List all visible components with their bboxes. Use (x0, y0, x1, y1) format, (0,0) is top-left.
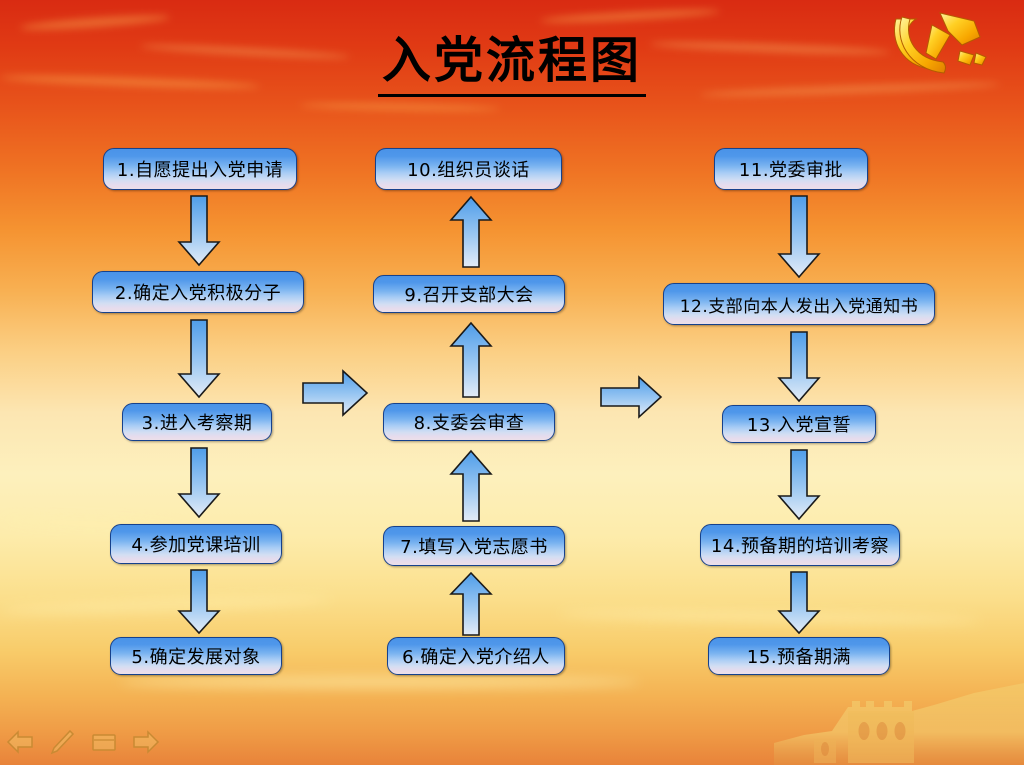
flow-node-step-10[interactable]: 10.组织员谈话 (375, 148, 562, 190)
arrow-down-step12-to-step13 (778, 332, 820, 402)
flow-node-step-14[interactable]: 14.预备期的培训考察 (700, 524, 900, 566)
great-wall-watermark (774, 665, 1024, 765)
arrow-up-step8-to-step9 (450, 322, 492, 398)
arrow-right-icon (132, 729, 160, 755)
flow-node-step-9[interactable]: 9.召开支部大会 (373, 275, 565, 313)
flow-node-step-11[interactable]: 11.党委审批 (714, 148, 868, 190)
flow-node-step-4[interactable]: 4.参加党课培训 (110, 524, 282, 564)
party-hammer-sickle-emblem (882, 2, 1012, 80)
arrow-right-column2-to-column3 (600, 375, 662, 419)
flow-node-step-1[interactable]: 1.自愿提出入党申请 (103, 148, 297, 190)
flow-node-step-7[interactable]: 7.填写入党志愿书 (383, 526, 565, 566)
cloud-streak (540, 7, 720, 24)
flow-node-step-6[interactable]: 6.确定入党介绍人 (387, 637, 565, 675)
arrow-down-step2-to-step3 (178, 320, 220, 398)
nav-previous-button[interactable] (6, 729, 34, 759)
pen-icon (48, 729, 76, 755)
arrow-up-step9-to-step10 (450, 196, 492, 268)
presentation-slide: 入党流程图 1.自愿提出入党申请 2.确定入党积极分子 3.进入考察期 (0, 0, 1024, 765)
arrow-down-step11-to-step12 (778, 196, 820, 278)
flow-node-step-13[interactable]: 13.入党宣誓 (722, 405, 876, 443)
arrow-right-column1-to-column2 (302, 369, 368, 417)
nav-next-button[interactable] (132, 729, 160, 759)
nav-menu-button[interactable] (90, 729, 118, 759)
flow-node-step-2[interactable]: 2.确定入党积极分子 (92, 271, 304, 313)
arrow-down-step1-to-step2 (178, 196, 220, 266)
cloud-streak (20, 13, 170, 32)
arrow-down-step3-to-step4 (178, 448, 220, 518)
arrow-up-step7-to-step8 (450, 450, 492, 522)
arrow-down-step14-to-step15 (778, 572, 820, 634)
cloud-streak (120, 676, 640, 688)
flow-node-step-8[interactable]: 8.支委会审查 (383, 403, 555, 441)
cloud-streak (560, 608, 980, 625)
arrow-down-step13-to-step14 (778, 450, 820, 520)
slide-menu-icon (90, 729, 118, 755)
flow-node-step-3[interactable]: 3.进入考察期 (122, 403, 272, 441)
arrow-down-step4-to-step5 (178, 570, 220, 634)
flow-node-step-12[interactable]: 12.支部向本人发出入党通知书 (663, 283, 935, 325)
slideshow-nav-bar (6, 729, 156, 757)
arrow-left-icon (6, 729, 34, 755)
flow-node-step-5[interactable]: 5.确定发展对象 (110, 637, 282, 675)
slide-title: 入党流程图 (0, 32, 1024, 88)
nav-pen-button[interactable] (48, 729, 76, 759)
cloud-streak (300, 102, 500, 111)
arrow-up-step6-to-step7 (450, 572, 492, 636)
cloud-streak (0, 594, 330, 616)
slide-title-text: 入党流程图 (378, 31, 646, 97)
flow-node-step-15[interactable]: 15.预备期满 (708, 637, 890, 675)
